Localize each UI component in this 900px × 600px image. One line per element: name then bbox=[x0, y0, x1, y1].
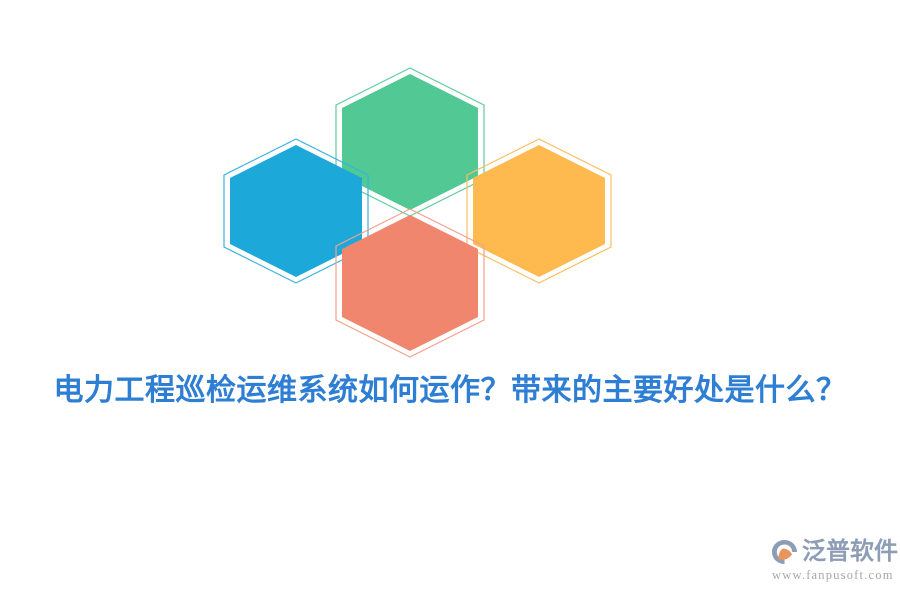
green-hexagon-fill bbox=[342, 74, 478, 210]
brand-row: 泛普软件 bbox=[770, 536, 896, 568]
brand-url: www.fanpusoft.com bbox=[772, 567, 896, 583]
coral-hexagon-fill bbox=[342, 215, 478, 351]
page-canvas: 电力工程巡检运维系统如何运作？带来的主要好处是什么？ 泛普软件 www.fanp… bbox=[0, 0, 900, 600]
orange-hexagon bbox=[467, 139, 611, 283]
page-title: 电力工程巡检运维系统如何运作？带来的主要好处是什么？ bbox=[0, 370, 900, 412]
orange-hexagon-fill bbox=[473, 145, 605, 277]
fanpu-logo-icon bbox=[770, 538, 800, 566]
brand-name: 泛普软件 bbox=[802, 538, 898, 566]
hexagon-cluster-graphic bbox=[0, 0, 900, 360]
brand-watermark: 泛普软件 www.fanpusoft.com bbox=[770, 536, 896, 586]
